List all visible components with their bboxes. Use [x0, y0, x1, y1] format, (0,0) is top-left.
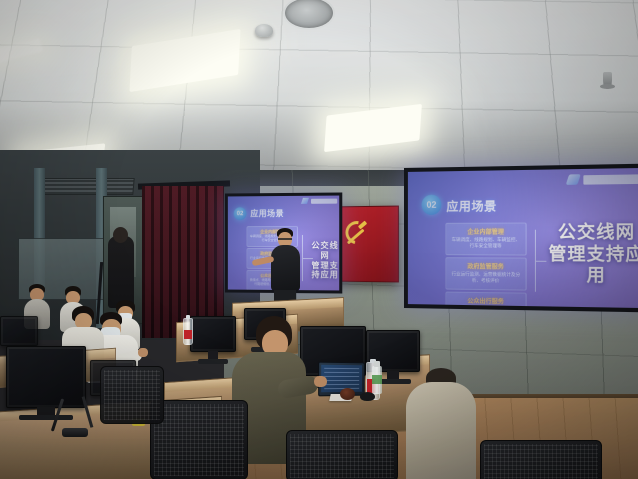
- monitor: [0, 316, 38, 346]
- smoke-detector-icon: [255, 24, 273, 37]
- presenter: [268, 228, 302, 308]
- conference-room-photo: 02 应用场景 企业内部管理 车辆调度、线路规划、车辆监控、行车安全管理等 政府…: [0, 0, 638, 479]
- hammer-and-sickle-icon: [343, 219, 368, 247]
- attendee-torso: [406, 382, 476, 479]
- attendee-hand: [314, 376, 327, 387]
- monitor: [190, 316, 236, 352]
- screen-frame: [404, 164, 638, 313]
- right-led-display: 02 应用场景 企业内部管理 车辆调度、线路规划、车辆监控、行车安全管理等 政府…: [404, 164, 638, 313]
- desk-object-brown: [340, 388, 355, 400]
- microphone-base: [62, 428, 88, 437]
- attendee-hand: [138, 348, 148, 357]
- attendee-beige-top: [406, 368, 476, 479]
- office-chair[interactable]: [100, 366, 164, 424]
- air-vent-icon: [37, 178, 134, 195]
- presenter-glasses-icon: [278, 238, 292, 240]
- presenter-torso: [271, 245, 300, 291]
- mouse[interactable]: [360, 392, 375, 401]
- hand-sanitizer: [372, 366, 382, 394]
- water-bottle: [183, 318, 193, 345]
- sprinkler-head-icon: [603, 72, 612, 89]
- office-chair[interactable]: [480, 440, 602, 479]
- monitor: [6, 346, 86, 408]
- camera-operator: [108, 236, 134, 308]
- office-chair[interactable]: [286, 430, 398, 479]
- office-chair[interactable]: [150, 400, 248, 479]
